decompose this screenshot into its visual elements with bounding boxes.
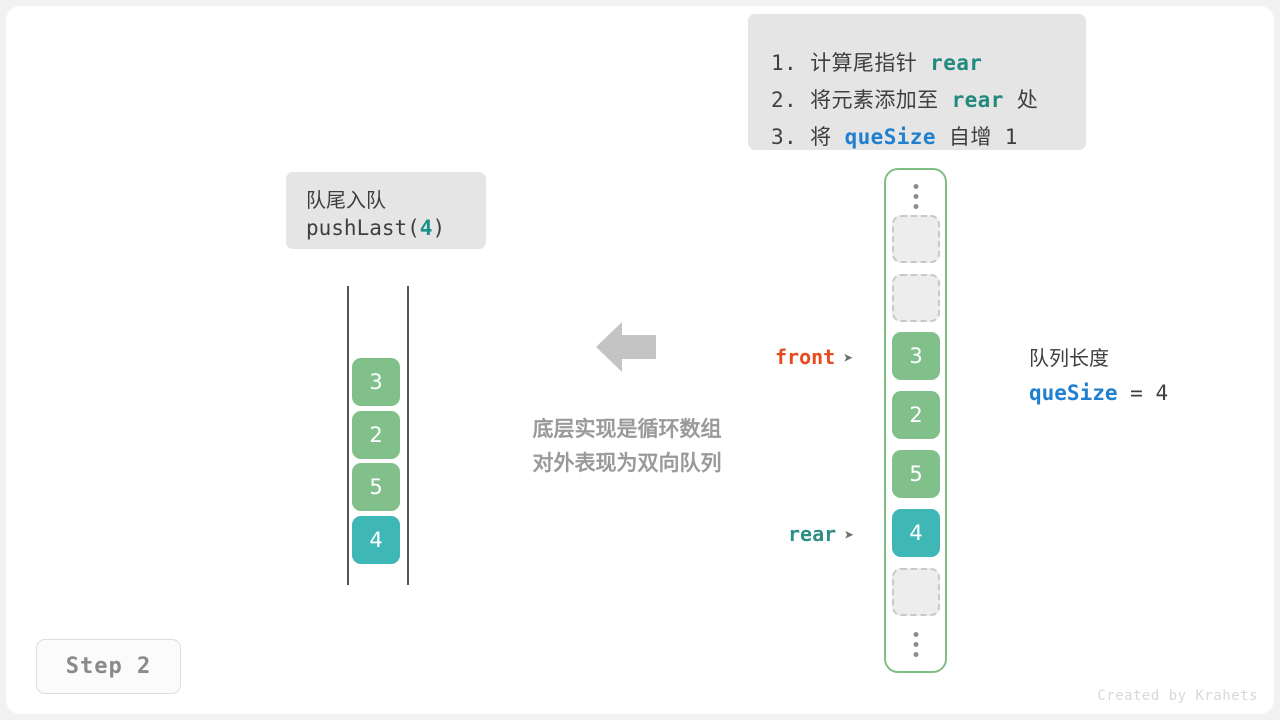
left-rail-end [407,286,409,585]
ring-cell-5: 4 [892,509,940,557]
queue-size-title: 队列长度 [1029,342,1168,371]
left-cell-2: 5 [352,463,400,511]
diagram-caption: 底层实现是循环数组 对外表现为双向队列 [502,412,752,480]
keyword-rear: rear [930,51,982,75]
ellipsis-top-icon [913,184,918,209]
left-cell-1: 2 [352,411,400,459]
left-arrow-icon [596,320,656,374]
queue-size-label: 队列长度 queSize = 4 [1029,342,1168,405]
keyword-rear: rear [952,88,1004,112]
ring-cell-2: 3 [892,332,940,380]
left-cell-0: 3 [352,358,400,406]
front-pointer: front➤ [775,345,853,369]
operation-argument: 4 [420,216,433,240]
ring-cell-6 [892,568,940,616]
operation-note: 队尾入队 pushLast(4) [286,172,486,249]
left-cell-3: 4 [352,516,400,564]
rear-arrow-icon: ➤ [844,526,854,546]
ring-cell-1 [892,274,940,322]
keyword-quesize: queSize [845,125,936,149]
queue-size-expression: queSize = 4 [1029,381,1168,405]
operation-title: 队尾入队 [306,184,386,213]
caption-line-1: 底层实现是循环数组 [502,412,752,446]
step-badge: Step 2 [36,639,181,694]
left-rail-start [347,286,349,585]
steps-note: 1. 计算尾指针 rear 2. 将元素添加至 rear 处 3. 将 queS… [748,14,1086,150]
diagram-canvas: 1. 计算尾指针 rear 2. 将元素添加至 rear 处 3. 将 queS… [0,0,1280,720]
ellipsis-bottom-icon [913,632,918,657]
rear-pointer: rear➤ [788,522,854,546]
keyword-quesize: queSize [1029,381,1118,405]
steps-note-line-2: 2. 将元素添加至 rear 处 [771,84,1038,114]
ring-cell-3: 2 [892,391,940,439]
ring-cell-4: 5 [892,450,940,498]
caption-line-2: 对外表现为双向队列 [502,446,752,480]
credit-text: Created by Krahets [1097,688,1258,704]
circular-array-container: 3 2 5 4 [884,168,947,673]
steps-note-line-3: 3. 将 queSize 自增 1 [771,121,1018,151]
ring-cell-0 [892,215,940,263]
operation-call: pushLast(4) [306,216,445,240]
front-arrow-icon: ➤ [843,349,853,369]
steps-note-line-1: 1. 计算尾指针 rear [771,47,982,77]
